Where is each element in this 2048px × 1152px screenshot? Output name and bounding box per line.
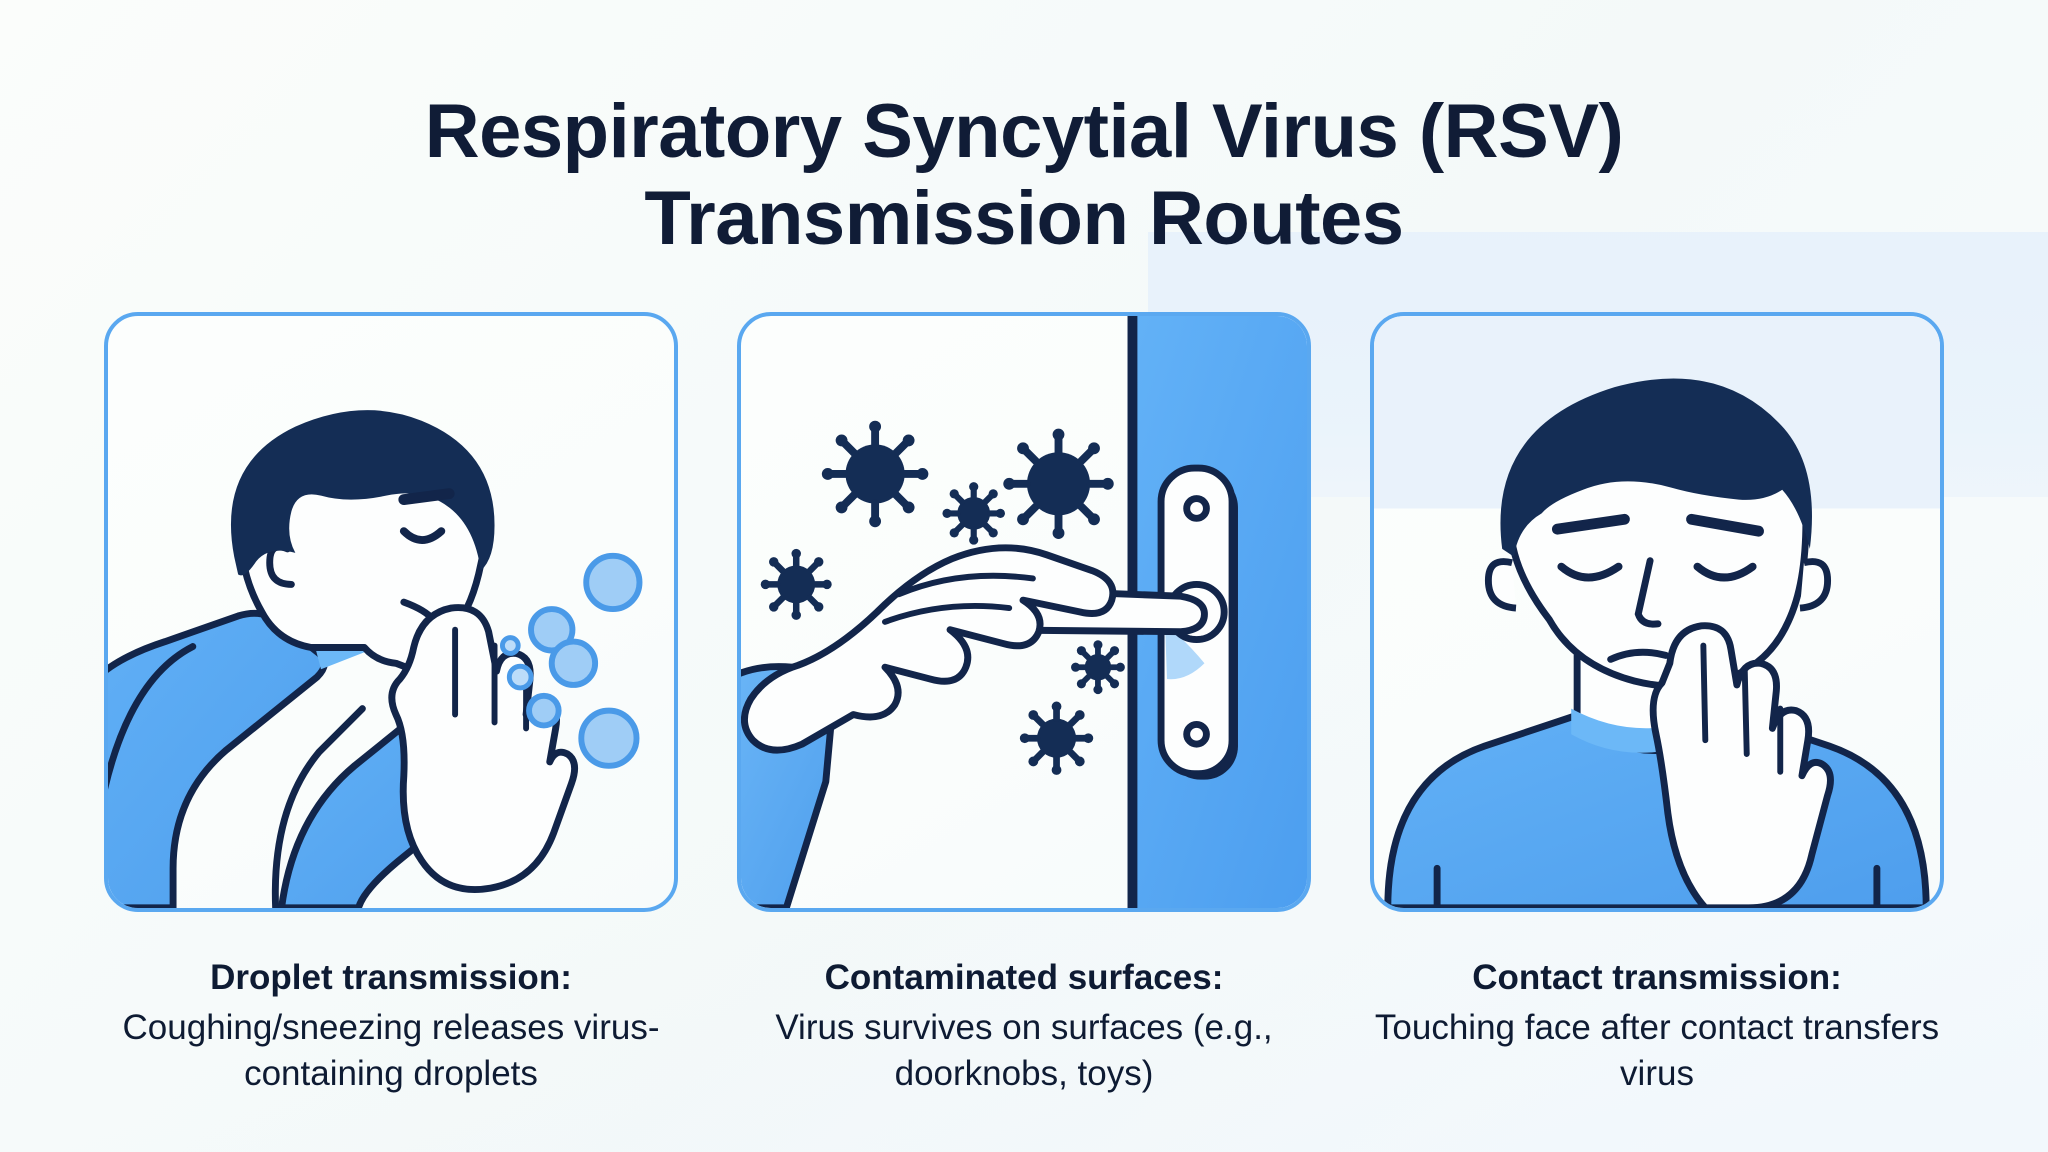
caption-contaminated-surfaces: Contaminated surfaces: Virus survives on… [737,955,1311,1098]
caption-body: Coughing/sneezing releases virus-contain… [104,1005,678,1098]
page-title: Respiratory Syncytial Virus (RSV) Transm… [0,89,2048,262]
virus-particle-mid-small [1071,640,1125,694]
caption-heading: Droplet transmission: [104,955,678,1002]
contaminated-surfaces-illustration [741,316,1307,908]
virus-particle-left [761,549,832,620]
illustration-card-contact-transmission [1370,312,1944,912]
caption-heading: Contact transmission: [1370,955,1944,1002]
contact-transmission-illustration [1374,316,1940,908]
droplet-transmission-illustration [108,316,674,908]
caption-contact-transmission: Contact transmission: Touching face afte… [1370,955,1944,1098]
plate-screw-bottom [1187,724,1207,744]
caption-droplet-transmission: Droplet transmission: Coughing/sneezing … [104,955,678,1098]
panels-row [104,312,1944,912]
virus-particle-large-2 [1003,429,1113,539]
page-title-line-2: Transmission Routes [0,176,2048,263]
hand-touching-face [1653,626,1830,908]
plate-screw-top [1187,499,1207,519]
caption-heading: Contaminated surfaces: [737,955,1311,1002]
illustration-card-droplet-transmission [104,312,678,912]
captions-row: Droplet transmission: Coughing/sneezing … [104,955,1944,1098]
eyebrow [404,494,449,500]
page-title-line-1: Respiratory Syncytial Virus (RSV) [0,89,2048,176]
caption-body: Touching face after contact transfers vi… [1370,1005,1944,1098]
illustration-card-contaminated-surfaces [737,312,1311,912]
caption-body: Virus survives on surfaces (e.g., doorkn… [737,1005,1311,1098]
virus-particle-large [822,421,928,527]
virus-particle-bottom [1020,702,1093,775]
virus-particle-small [942,482,1005,545]
infographic-poster: Respiratory Syncytial Virus (RSV) Transm… [0,0,2048,1152]
